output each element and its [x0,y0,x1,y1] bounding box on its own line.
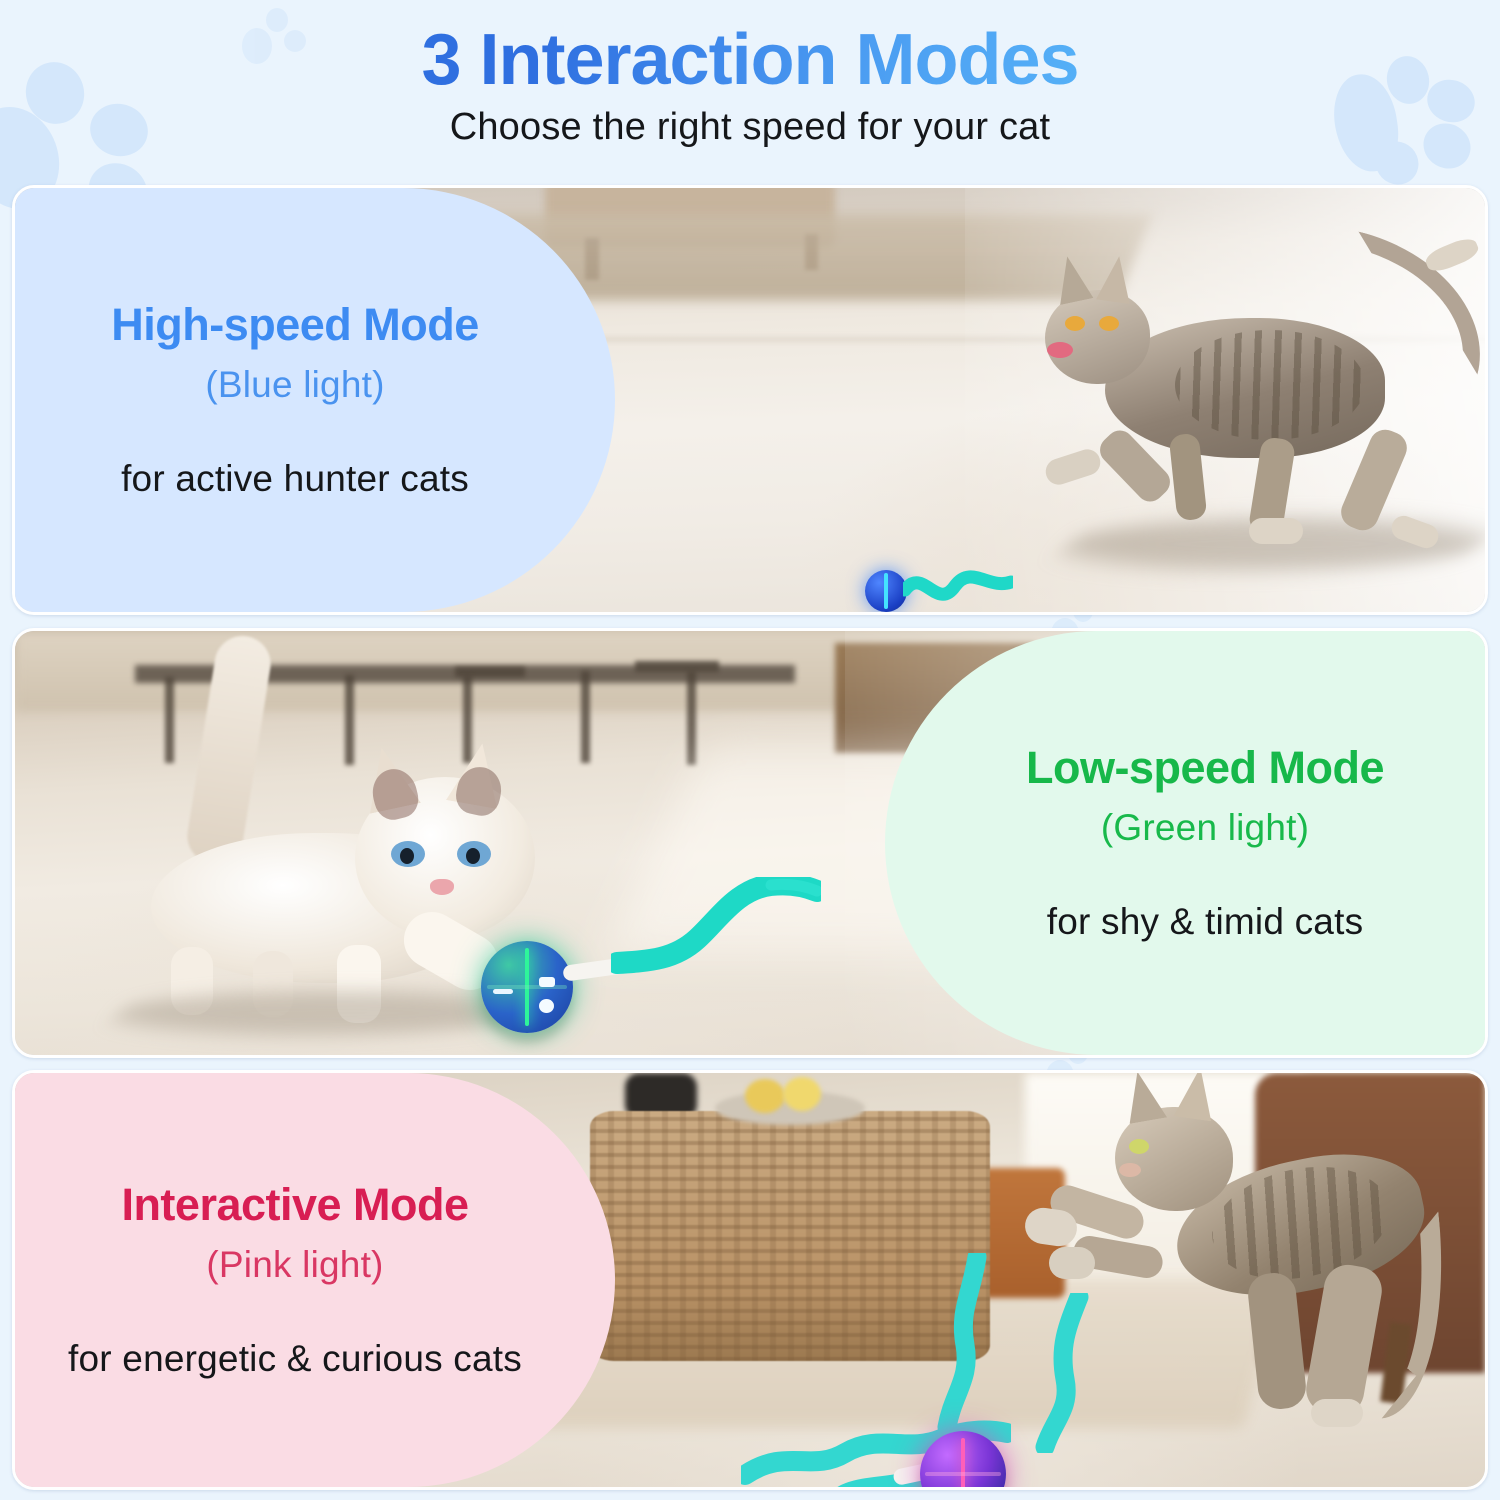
ball-toy [481,941,573,1033]
page-title: 3 Interaction Modes [421,22,1078,100]
page-subtitle: Choose the right speed for your cat [450,106,1051,149]
mode-description: for energetic & curious cats [68,1338,522,1380]
ball-toy-distant [865,570,907,612]
mode-card-high-speed: High-speed Mode (Blue light) for active … [12,185,1488,615]
mode-text-panel-low-speed: Low-speed Mode (Green light) for shy & t… [885,631,1485,1055]
mode-card-interactive: Interactive Mode (Pink light) for energe… [12,1070,1488,1490]
mode-card-low-speed: Low-speed Mode (Green light) for shy & t… [12,628,1488,1058]
header: 3 Interaction Modes Choose the right spe… [0,0,1500,185]
mode-description: for active hunter cats [121,458,469,500]
feather-tail-mid [1015,1293,1105,1453]
mode-light-label: (Pink light) [206,1244,383,1286]
cat-illustration [1025,238,1488,568]
mode-title: Low-speed Mode [1026,743,1384,793]
mode-text-panel-high-speed: High-speed Mode (Blue light) for active … [15,188,615,612]
feather-tail [611,877,821,987]
mode-light-label: (Green light) [1101,807,1309,849]
mode-text-panel-interactive: Interactive Mode (Pink light) for energe… [15,1073,615,1487]
mode-description: for shy & timid cats [1047,901,1364,943]
mode-title: High-speed Mode [111,300,479,350]
mode-title: Interactive Mode [121,1180,468,1230]
feather-tail-distant [903,560,1013,615]
mode-light-label: (Blue light) [205,364,384,406]
